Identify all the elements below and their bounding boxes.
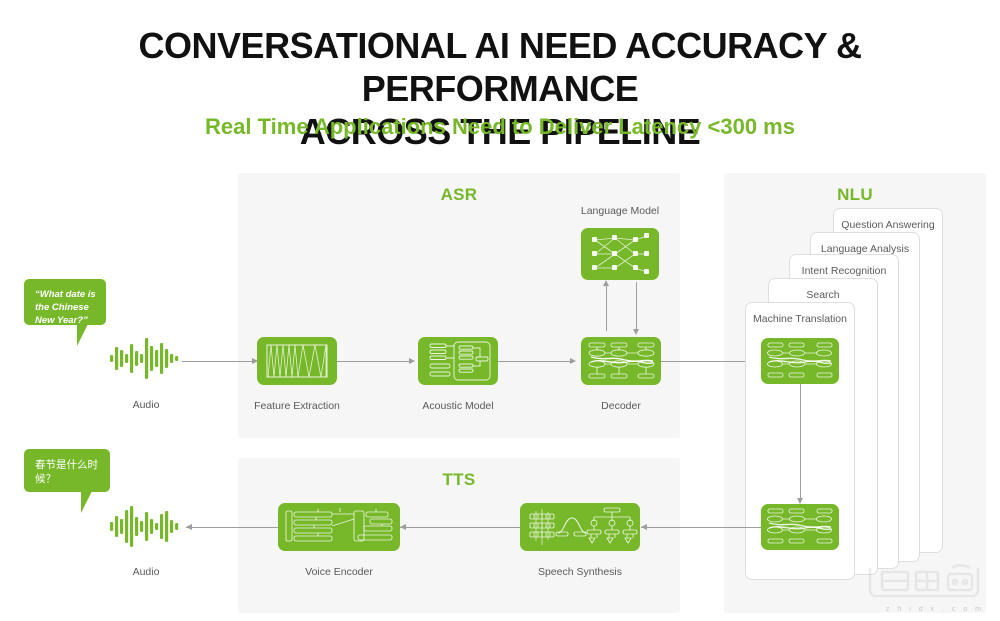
output-bubble-text: 春节是什么时候？ (35, 458, 100, 486)
input-audio-label: Audio (110, 399, 182, 411)
nlu-model-box-bottom[interactable] (761, 504, 839, 550)
connector-decoder-to-lm (606, 284, 607, 331)
panel-nlu-title: NLU (724, 185, 986, 205)
input-speech-bubble: “What date is the Chinese New Year?” (24, 279, 106, 325)
asr-stage-label-feature-extraction: Feature Extraction (237, 400, 357, 412)
connector-nlu-top-to-bottom (800, 384, 801, 500)
nlu-card-label-machine-translation: Machine Translation (746, 313, 854, 325)
output-audio-waveform-icon (110, 503, 182, 549)
arrow-decoder-to-lm-icon (603, 280, 609, 286)
input-bubble-text: “What date is the Chinese New Year?” (35, 288, 96, 327)
connector-feature-to-acoustic (337, 361, 411, 362)
asr-language-model-box[interactable] (581, 228, 659, 280)
connector-nlu-to-speech-synthesis (641, 527, 761, 528)
page-title-line1: CONVERSATIONAL AI NEED ACCURACY & PERFOR… (139, 25, 862, 109)
connector-acoustic-to-decoder (498, 361, 572, 362)
arrow-lm-to-decoder-icon (633, 329, 639, 335)
nlu-card-label-search: Search (769, 289, 877, 301)
arrow-acoustic-to-decoder-icon (570, 358, 576, 364)
nlu-model-box-top[interactable] (761, 338, 839, 384)
tts-stage-voice-encoder[interactable] (278, 503, 400, 551)
panel-tts-title: TTS (238, 470, 680, 490)
connector-audio-to-feature (182, 361, 254, 362)
connector-synthesis-to-encoder (400, 527, 520, 528)
asr-language-model-label: Language Model (560, 205, 680, 217)
asr-stage-acoustic-model[interactable] (418, 337, 498, 385)
asr-stage-feature-extraction[interactable] (257, 337, 337, 385)
input-audio-waveform-icon (110, 335, 182, 381)
connector-lm-to-decoder (636, 282, 637, 331)
asr-stage-label-acoustic-model: Acoustic Model (398, 400, 518, 412)
panel-asr-title: ASR (238, 185, 680, 205)
arrow-encoder-to-audio-out-icon (186, 524, 192, 530)
tts-stage-label-voice-encoder: Voice Encoder (278, 566, 400, 578)
nlu-card-label-intent-recognition: Intent Recognition (790, 265, 898, 277)
arrow-synthesis-to-encoder-icon (400, 524, 406, 530)
slide-canvas: CONVERSATIONAL AI NEED ACCURACY & PERFOR… (0, 0, 1000, 621)
output-speech-bubble: 春节是什么时候？ (24, 449, 110, 492)
connector-encoder-to-audio-out (186, 527, 278, 528)
arrow-feature-to-acoustic-icon (409, 358, 415, 364)
bubble-tail-icon (77, 324, 88, 346)
watermark-domain: z h i d x . c o m (886, 606, 984, 613)
asr-stage-decoder[interactable] (581, 337, 661, 385)
nlu-card-label-question-answering: Question Answering (834, 219, 942, 231)
asr-stage-label-decoder: Decoder (561, 400, 681, 412)
arrow-nlu-to-speech-synthesis-icon (641, 524, 647, 530)
page-subtitle: Real Time Applications Need to Deliver L… (0, 113, 1000, 141)
bubble-tail-icon (81, 491, 92, 513)
output-audio-label: Audio (110, 566, 182, 578)
tts-stage-label-speech-synthesis: Speech Synthesis (520, 566, 640, 578)
tts-stage-speech-synthesis[interactable] (520, 503, 640, 551)
